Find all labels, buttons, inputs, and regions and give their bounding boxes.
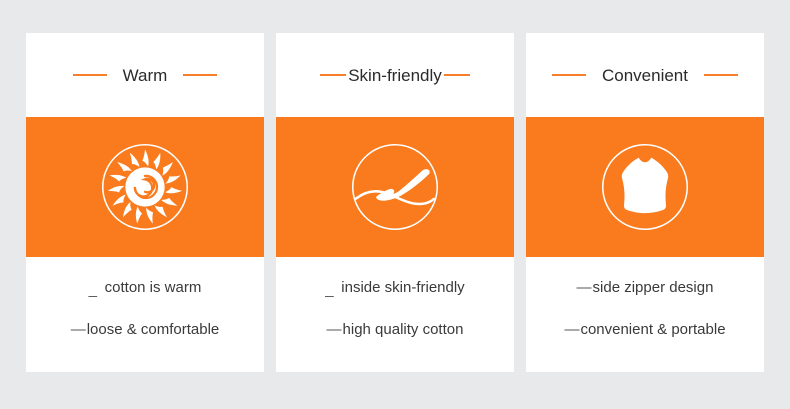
title-rule-left-icon	[320, 74, 346, 76]
title-rule-right-icon	[444, 74, 470, 76]
feature-bullet-list: _ cotton is warm — loose & comfortable	[71, 279, 220, 339]
card-header: Convenient	[526, 33, 764, 117]
bullet-dash-icon: _	[89, 281, 105, 299]
bullet-dash-icon: —	[564, 321, 580, 339]
list-item: — convenient & portable	[564, 321, 725, 339]
feature-bullet-list: — side zipper design — convenient & port…	[564, 279, 725, 339]
feature-card-warm: Warm	[26, 33, 264, 372]
feature-cards-container: Warm	[0, 0, 790, 409]
bullet-text: high quality cotton	[343, 321, 464, 339]
card-title: Skin-friendly	[348, 67, 442, 84]
bullet-dash-icon: —	[577, 279, 593, 297]
title-rule-right-icon	[183, 74, 217, 76]
bullet-dash-icon: —	[327, 321, 343, 339]
list-item: — loose & comfortable	[71, 321, 220, 339]
card-body: _ cotton is warm — loose & comfortable	[26, 257, 264, 372]
garment-vest-icon	[597, 139, 693, 235]
card-body: — side zipper design — convenient & port…	[526, 257, 764, 372]
feature-bullet-list: _ inside skin-friendly — high quality co…	[325, 279, 464, 339]
bullet-text: side zipper design	[593, 279, 714, 297]
bullet-text: convenient & portable	[580, 321, 725, 339]
card-body: _ inside skin-friendly — high quality co…	[276, 257, 514, 372]
list-item: _ cotton is warm	[89, 279, 202, 297]
feature-card-convenient: Convenient — side zipper design	[526, 33, 764, 372]
title-rule-left-icon	[73, 74, 107, 76]
icon-band	[526, 117, 764, 257]
list-item: — side zipper design	[577, 279, 714, 297]
hand-wave-icon	[347, 139, 443, 235]
title-rule-right-icon	[704, 74, 738, 76]
title-row: Warm	[26, 67, 264, 84]
icon-band	[276, 117, 514, 257]
bullet-dash-icon: _	[325, 281, 341, 299]
list-item: — high quality cotton	[327, 321, 464, 339]
card-header: Warm	[26, 33, 264, 117]
feature-card-skin-friendly: Skin-friendly _ inside skin-friendly	[276, 33, 514, 372]
card-header: Skin-friendly	[276, 33, 514, 117]
sun-spiral-icon	[97, 139, 193, 235]
title-row: Skin-friendly	[276, 67, 514, 84]
bullet-dash-icon: —	[71, 321, 87, 339]
bullet-text: loose & comfortable	[87, 321, 220, 339]
card-title: Convenient	[602, 67, 688, 84]
bullet-text: cotton is warm	[105, 279, 202, 297]
title-rule-left-icon	[552, 74, 586, 76]
card-title: Warm	[123, 67, 168, 84]
bullet-text: inside skin-friendly	[341, 279, 464, 297]
list-item: _ inside skin-friendly	[325, 279, 464, 297]
title-row: Convenient	[526, 67, 764, 84]
icon-band	[26, 117, 264, 257]
